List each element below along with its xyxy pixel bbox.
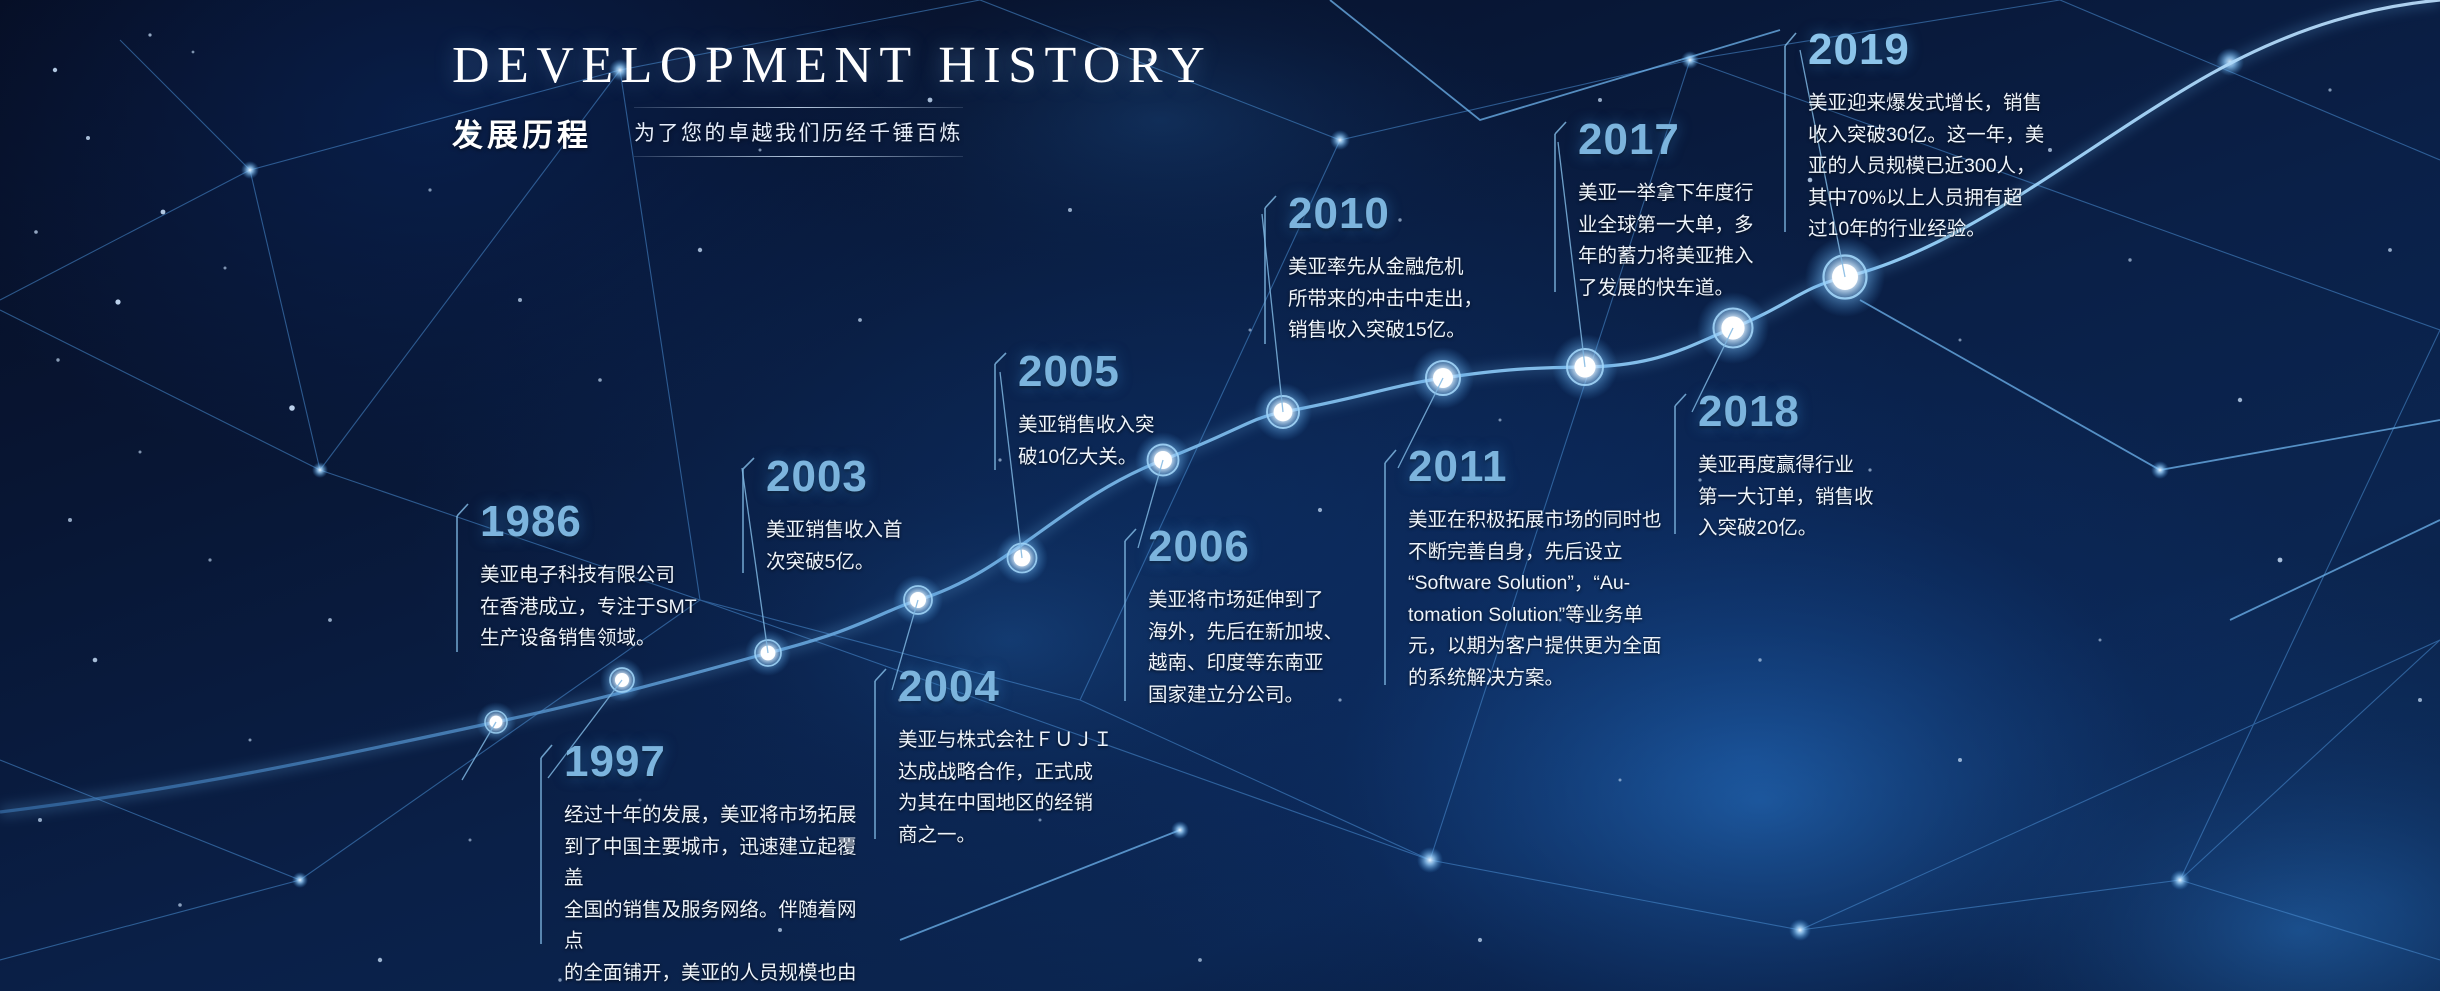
entry-year-2004: 2004 [898,665,1127,709]
entry-text-2018: 美亚再度赢得行业 第一大订单，销售收 入突破20亿。 [1698,450,1917,545]
entry-text-2006: 美亚将市场延伸到了 海外，先后在新加坡、 越南、印度等东南亚 国家建立分公司。 [1148,585,1377,711]
entry-year-2003: 2003 [766,455,980,499]
page-header: DEVELOPMENT HISTORY 发展历程 为了您的卓越我们历经千锤百炼 [452,36,1212,157]
entry-text-2004: 美亚与株式会社ＦＵＪＩ 达成战略合作，正式成 为其在中国地区的经销 商之一。 [898,725,1127,851]
entry-text-1997: 经过十年的发展，美亚将市场拓展 到了中国主要城市，迅速建立起覆盖 全国的销售及服… [564,800,858,991]
timeline-entry-2019[interactable]: 2019 美亚迎来爆发式增长，销售 收入突破30亿。这一年，美 亚的人员规模已近… [1772,28,2047,246]
tagline-rule-bottom [634,156,963,157]
entry-text-2005: 美亚销售收入突 破10亿大关。 [1018,410,1232,473]
timeline-entry-1997[interactable]: 1997 经过十年的发展，美亚将市场拓展 到了中国主要城市，迅速建立起覆盖 全国… [528,740,858,991]
entry-year-2010: 2010 [1288,192,1522,236]
page-title-english: DEVELOPMENT HISTORY [452,36,1212,95]
entry-year-1986: 1986 [480,500,704,544]
tagline-rule-top [634,107,963,108]
entry-year-2006: 2006 [1148,525,1377,569]
timeline-entry-2018[interactable]: 2018 美亚再度赢得行业 第一大订单，销售收 入突破20亿。 [1662,390,1917,545]
timeline-curve [0,0,2440,991]
timeline-entry-2004[interactable]: 2004 美亚与株式会社ＦＵＪＩ 达成战略合作，正式成 为其在中国地区的经销 商… [862,665,1127,851]
entry-year-2005: 2005 [1018,350,1232,394]
entry-text-2010: 美亚率先从金融危机 所带来的冲击中走出， 销售收入突破15亿。 [1288,252,1522,347]
entry-text-2017: 美亚一举拿下年度行 业全球第一大单，多 年的蓄力将美亚推入 了发展的快车道。 [1578,178,1797,304]
tagline-text: 为了您的卓越我们历经千锤百炼 [634,117,963,147]
timeline-entry-2003[interactable]: 2003 美亚销售收入首 次突破5亿。 [730,455,980,578]
entry-year-2018: 2018 [1698,390,1917,434]
page-title-chinese: 发展历程 [452,110,592,155]
entry-text-2019: 美亚迎来爆发式增长，销售 收入突破30亿。这一年，美 亚的人员规模已近300人，… [1808,88,2047,246]
entry-year-2011: 2011 [1408,445,1692,489]
entry-year-2019: 2019 [1808,28,2047,72]
entry-text-2011: 美亚在积极拓展市场的同时也 不断完善自身，先后设立 “Software Solu… [1408,505,1692,694]
timeline-entry-2006[interactable]: 2006 美亚将市场延伸到了 海外，先后在新加坡、 越南、印度等东南亚 国家建立… [1112,525,1377,711]
timeline-entry-2005[interactable]: 2005 美亚销售收入突 破10亿大关。 [982,350,1232,473]
entry-year-2017: 2017 [1578,118,1797,162]
tagline-wrapper: 为了您的卓越我们历经千锤百炼 [628,107,969,157]
entry-text-2003: 美亚销售收入首 次突破5亿。 [766,515,980,578]
timeline-infographic: DEVELOPMENT HISTORY 发展历程 为了您的卓越我们历经千锤百炼 … [0,0,2440,991]
entry-year-1997: 1997 [564,740,858,784]
timeline-entry-2011[interactable]: 2011 美亚在积极拓展市场的同时也 不断完善自身，先后设立 “Software… [1372,445,1692,694]
timeline-entry-2017[interactable]: 2017 美亚一举拿下年度行 业全球第一大单，多 年的蓄力将美亚推入 了发展的快… [1542,118,1797,304]
timeline-entry-2010[interactable]: 2010 美亚率先从金融危机 所带来的冲击中走出， 销售收入突破15亿。 [1252,192,1522,347]
timeline-entry-1986[interactable]: 1986 美亚电子科技有限公司 在香港成立，专注于SMT 生产设备销售领域。 [444,500,704,655]
entry-text-1986: 美亚电子科技有限公司 在香港成立，专注于SMT 生产设备销售领域。 [480,560,704,655]
header-subrow: 发展历程 为了您的卓越我们历经千锤百炼 [452,107,1212,157]
